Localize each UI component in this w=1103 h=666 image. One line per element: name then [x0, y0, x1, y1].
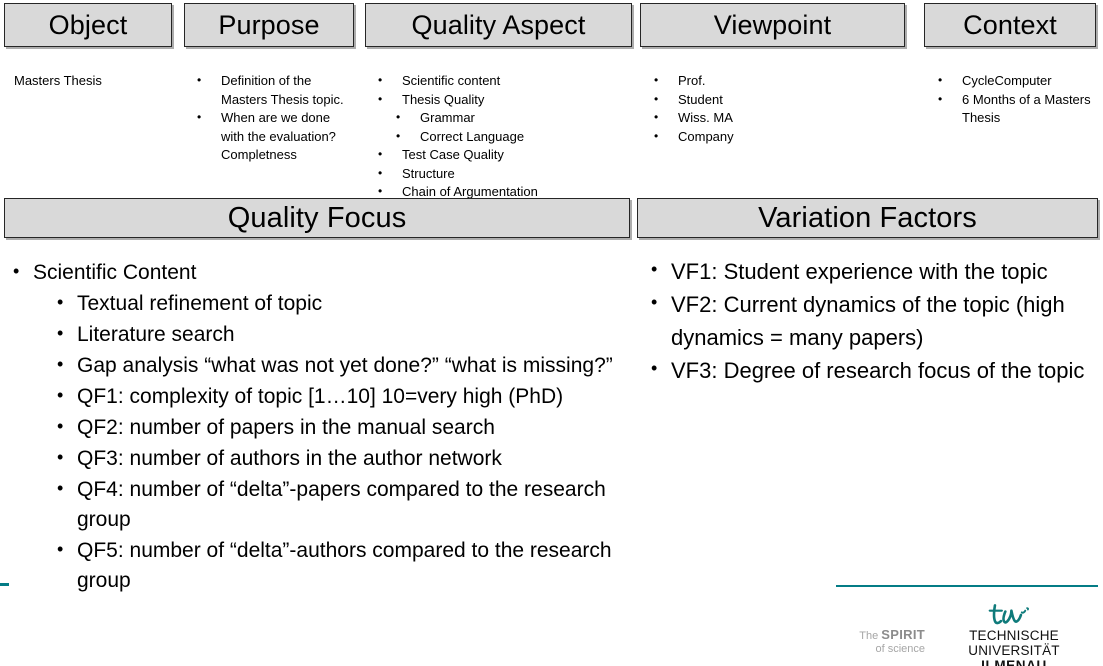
list-item: Masters Thesis [14, 72, 174, 91]
context-list: CycleComputer 6 Months of a Masters Thes… [934, 72, 1099, 128]
list-item: CycleComputer [934, 72, 1099, 91]
list-item: QF2: number of papers in the manual sear… [55, 413, 630, 443]
header-plaque-context: Context [924, 3, 1096, 47]
spirit-the-text: The [859, 630, 881, 642]
purpose-list: Definition of the Masters Thesis topic. … [193, 72, 353, 165]
footer-divider-rule [836, 585, 1098, 587]
column-body-object: Masters Thesis [14, 72, 174, 91]
list-item: Company [650, 128, 905, 147]
section-body-quality-focus: Scientific Content Textual refinement of… [10, 258, 630, 597]
header-label-viewpoint: Viewpoint [714, 12, 831, 39]
left-edge-tick-mark [0, 583, 9, 586]
header-plaque-viewpoint: Viewpoint [640, 3, 905, 47]
header-plaque-object: Object [4, 3, 172, 47]
list-item: Literature search [55, 320, 630, 350]
viewpoint-list: Prof. Student Wiss. MA Company [650, 72, 905, 146]
column-body-context: CycleComputer 6 Months of a Masters Thes… [934, 72, 1099, 128]
quality-aspect-sublist: Grammar Correct Language [392, 109, 632, 146]
list-item: Gap analysis “what was not yet done?” “w… [55, 351, 630, 381]
tu-script-mark-icon [986, 602, 1042, 628]
list-item: Textual refinement of topic [55, 289, 630, 319]
list-item: VF1: Student experience with the topic [648, 255, 1093, 288]
variation-factors-list: VF1: Student experience with the topic V… [648, 255, 1093, 387]
header-label-quality-aspect: Quality Aspect [412, 12, 586, 39]
header-label-variation-factors: Variation Factors [758, 204, 977, 233]
list-item: Student [650, 91, 905, 110]
list-item: Test Case Quality [374, 146, 632, 165]
spirit-line-2: of science [841, 643, 925, 656]
list-item: When are we done with the evaluation? Co… [193, 109, 353, 165]
university-name-line1: TECHNISCHE UNIVERSITÄT [930, 628, 1098, 658]
list-item: QF5: number of “delta”-authors compared … [55, 536, 630, 596]
spirit-word-text: SPIRIT [881, 627, 925, 642]
spirit-line-1: The SPIRIT [841, 628, 925, 643]
list-item: Scientific content [374, 72, 632, 91]
list-item: 6 Months of a Masters Thesis [934, 91, 1099, 128]
university-name-line2: ILMENAU [930, 658, 1098, 666]
tu-ilmenau-logo: TECHNISCHE UNIVERSITÄT ILMENAU [930, 602, 1098, 666]
spirit-of-science-logo: The SPIRIT of science [841, 628, 925, 656]
column-body-viewpoint: Prof. Student Wiss. MA Company [650, 72, 905, 146]
header-label-quality-focus: Quality Focus [228, 204, 407, 233]
quality-focus-list: Scientific Content [10, 258, 630, 288]
list-item: Thesis Quality [374, 91, 632, 110]
header-plaque-purpose: Purpose [184, 3, 354, 47]
list-item: Wiss. MA [650, 109, 905, 128]
list-item: Structure [374, 165, 632, 184]
list-item: VF3: Degree of research focus of the top… [648, 354, 1093, 387]
header-plaque-variation-factors: Variation Factors [637, 198, 1098, 238]
slide-canvas: Object Purpose Quality Aspect Viewpoint … [0, 0, 1103, 666]
list-item: Scientific Content [10, 258, 630, 288]
quality-aspect-list: Scientific content Thesis Quality [374, 72, 632, 109]
header-label-purpose: Purpose [218, 12, 319, 39]
section-body-variation-factors: VF1: Student experience with the topic V… [648, 255, 1093, 387]
header-plaque-quality-aspect: Quality Aspect [365, 3, 632, 47]
header-label-context: Context [963, 12, 1057, 39]
column-body-purpose: Definition of the Masters Thesis topic. … [193, 72, 353, 165]
list-item: Definition of the Masters Thesis topic. [193, 72, 353, 109]
list-item: Correct Language [392, 128, 632, 147]
list-item: Grammar [392, 109, 632, 128]
header-label-object: Object [49, 12, 128, 39]
list-item: Prof. [650, 72, 905, 91]
header-plaque-quality-focus: Quality Focus [4, 198, 630, 238]
list-item: QF3: number of authors in the author net… [55, 444, 630, 474]
quality-focus-sublist: Textual refinement of topic Literature s… [55, 289, 630, 596]
list-item: QF1: complexity of topic [1…10] 10=very … [55, 382, 630, 412]
list-item: QF4: number of “delta”-papers compared t… [55, 475, 630, 535]
list-item: VF2: Current dynamics of the topic (high… [648, 288, 1093, 354]
